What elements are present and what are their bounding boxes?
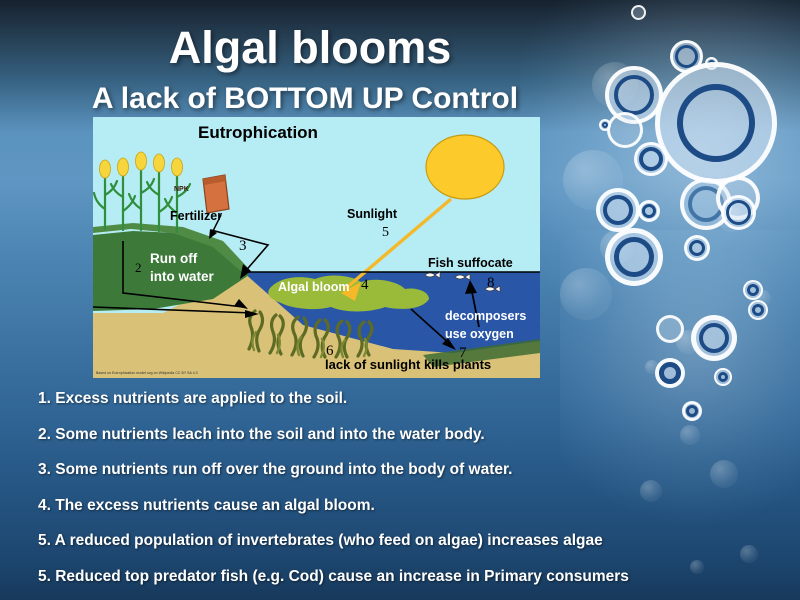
ring-bubble — [634, 142, 668, 176]
label-fertilizer: Fertilizer — [170, 209, 222, 223]
label-npk: NPK — [174, 186, 189, 193]
page-subtitle: A lack of BOTTOM UP Control — [0, 82, 610, 116]
bullet-list: 1. Excess nutrients are applied to the s… — [38, 390, 768, 600]
step-number-4: 4 — [361, 277, 369, 294]
ring-bubble — [748, 300, 768, 320]
ring-bubble — [631, 5, 646, 20]
step-number-3: 3 — [239, 238, 247, 255]
ring-bubble — [721, 195, 756, 230]
list-item: 3. Some nutrients run off over the groun… — [38, 461, 768, 479]
soft-bubble — [560, 268, 612, 320]
list-item: 5. Reduced top predator fish (e.g. Cod) … — [38, 568, 768, 586]
step-number-5: 5 — [382, 225, 389, 241]
list-item: 5. A reduced population of invertebrates… — [38, 532, 768, 550]
ring-bubble — [605, 228, 663, 286]
ring-bubble — [599, 119, 611, 131]
step-number-2: 2 — [135, 260, 142, 276]
step-number-6: 6 — [326, 343, 334, 360]
ring-bubble-large — [655, 62, 777, 184]
page-title: Algal blooms — [0, 22, 620, 74]
ring-bubble — [655, 358, 685, 388]
eutrophication-diagram: Eutrophication NPK Fertilizer Run off in… — [93, 117, 540, 378]
slide-canvas: Algal blooms A lack of BOTTOM UP Control — [0, 0, 800, 600]
ring-bubble — [656, 315, 684, 343]
label-algal-bloom: Algal bloom — [278, 280, 350, 294]
ring-bubble — [684, 235, 710, 261]
list-item: 1. Excess nutrients are applied to the s… — [38, 390, 768, 408]
step-number-7: 7 — [459, 345, 467, 362]
label-runoff-line1: Run off — [150, 251, 197, 266]
ring-bubble — [714, 368, 732, 386]
diagram-credit: Based on Eutrophication model.svg on Wik… — [96, 371, 198, 375]
list-item: 4. The excess nutrients cause an algal b… — [38, 497, 768, 515]
list-item: 2. Some nutrients leach into the soil an… — [38, 426, 768, 444]
label-use-oxygen: use oxygen — [445, 327, 514, 341]
label-decomposers: decomposers — [445, 309, 526, 323]
label-sunlight: Sunlight — [347, 207, 397, 221]
label-runoff-line2: into water — [150, 269, 214, 284]
ring-bubble — [691, 315, 737, 361]
ring-bubble — [638, 200, 660, 222]
ring-bubble — [743, 280, 763, 300]
label-fish-suffocate: Fish suffocate — [428, 256, 513, 270]
diagram-heading: Eutrophication — [198, 123, 318, 143]
step-number-8: 8 — [487, 275, 495, 292]
ring-bubble — [596, 188, 640, 232]
ring-bubble — [607, 112, 643, 148]
